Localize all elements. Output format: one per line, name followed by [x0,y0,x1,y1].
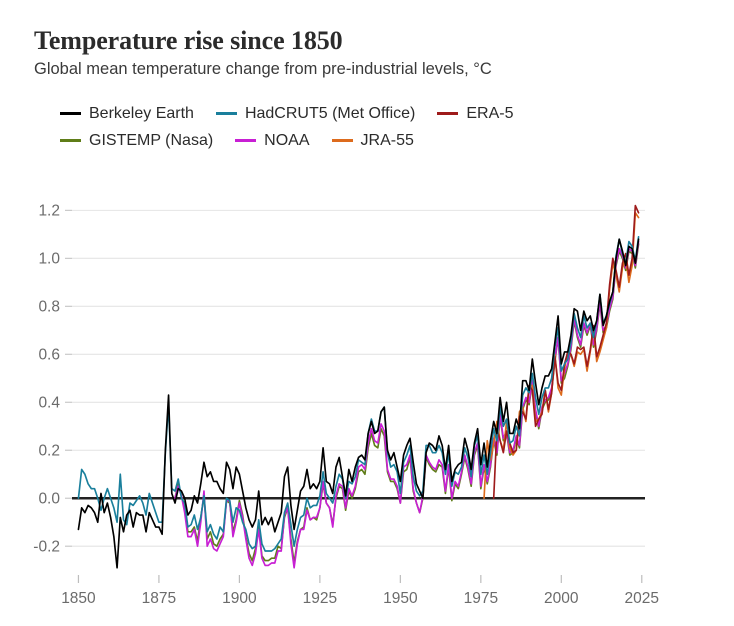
x-axis-labels: 18501875190019251950197520002025 [61,590,659,607]
series-group [78,206,638,568]
x-axis-tick-label: 1875 [142,590,176,607]
x-axis-tick-label: 1900 [222,590,257,607]
chart-plot-area: -0.20.00.20.40.60.81.01.2 18501875190019… [0,0,734,626]
series-line-gistemp-nasa [175,244,639,563]
x-axis-tick-label: 1950 [383,590,418,607]
x-axis-tick-label: 1925 [303,590,337,607]
x-axis-tick-label: 1975 [464,590,498,607]
y-axis-tick-label: 0.0 [38,490,60,507]
y-axis-tick-label: 0.4 [38,394,60,411]
x-axis-tick-label: 1850 [61,590,96,607]
y-axis-tick-label: -0.2 [33,538,60,555]
series-line-berkeley-earth [78,239,638,568]
x-axis-tick-label: 2025 [625,590,659,607]
y-axis-tick-label: 0.2 [38,442,60,459]
y-axis-tick-label: 1.0 [38,250,60,267]
series-line-noaa [175,242,639,568]
series-line-hadcrut5-met-office [78,237,638,551]
y-axis-tick-label: 0.8 [38,298,60,315]
y-axis-labels: -0.20.00.20.40.60.81.01.2 [33,202,60,555]
y-axis-ticks [65,210,72,546]
y-axis-tick-label: 1.2 [38,202,60,219]
chart-root: Temperature rise since 1850 Global mean … [0,0,734,626]
x-axis-tick-label: 2000 [544,590,579,607]
grid-group [72,210,645,546]
y-axis-tick-label: 0.6 [38,346,60,363]
x-axis-ticks [78,575,641,583]
